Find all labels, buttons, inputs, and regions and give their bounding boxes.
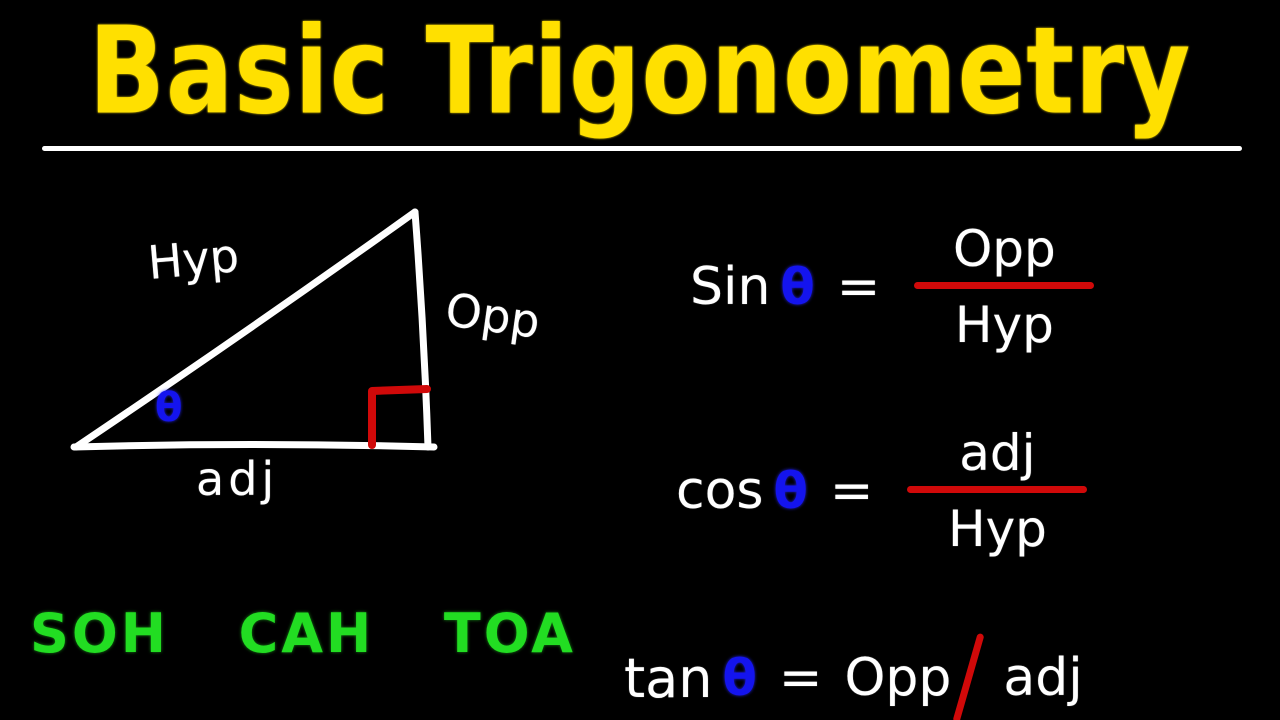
equation-sin-numerator: Opp <box>947 224 1062 274</box>
mnemonic-soh: SOH <box>30 602 169 665</box>
equation-cos-fraction: adj Hyp <box>907 428 1087 554</box>
equation-tan-theta: θ <box>723 649 757 707</box>
title-divider <box>42 146 1242 151</box>
equation-sin-function: Sin <box>690 257 770 317</box>
equation-sin-fraction: Opp Hyp <box>914 224 1094 350</box>
equation-tan-equals: = <box>779 648 823 708</box>
adjacent-line <box>74 445 434 448</box>
mnemonic-toa: TOA <box>444 602 576 665</box>
equation-sin-denominator: Hyp <box>949 300 1060 350</box>
equation-tan-function: tan <box>624 647 713 710</box>
hypotenuse-line <box>76 212 415 447</box>
equation-tan-numerator: Opp <box>844 648 951 708</box>
label-adjacent: adj <box>196 452 278 506</box>
equation-cos-denominator: Hyp <box>942 504 1053 554</box>
equation-tan-slash-icon <box>953 630 999 720</box>
equation-cos-numerator: adj <box>953 428 1041 478</box>
equation-cos: cos θ = adj Hyp <box>676 428 1087 554</box>
equation-sin-theta: θ <box>780 258 814 316</box>
mnemonic-soh-cah-toa: SOH CAH TOA <box>30 602 576 665</box>
equation-cos-function: cos <box>676 461 764 521</box>
label-theta-angle: θ <box>155 385 182 431</box>
equation-tan: tan θ = Opp adj <box>624 630 1083 720</box>
equation-sin: Sin θ = Opp Hyp <box>690 224 1094 350</box>
page-title: Basic Trigonometry <box>26 6 1255 136</box>
triangle-svg <box>0 170 620 530</box>
mnemonic-cah: CAH <box>239 602 375 665</box>
right-angle-marker-icon <box>372 389 427 445</box>
equation-sin-equals: = <box>837 257 881 317</box>
equation-cos-equals: = <box>830 461 874 521</box>
opposite-line <box>415 212 428 447</box>
equation-sin-fraction-bar <box>914 282 1094 289</box>
slide-canvas: Basic Trigonometry Hyp Opp adj θ SOH CAH… <box>0 0 1280 720</box>
right-triangle-diagram <box>0 170 620 530</box>
equation-tan-denominator: adj <box>1003 648 1082 708</box>
equation-cos-fraction-bar <box>907 486 1087 493</box>
equation-cos-theta: θ <box>774 462 808 520</box>
label-hypotenuse: Hyp <box>146 228 241 290</box>
